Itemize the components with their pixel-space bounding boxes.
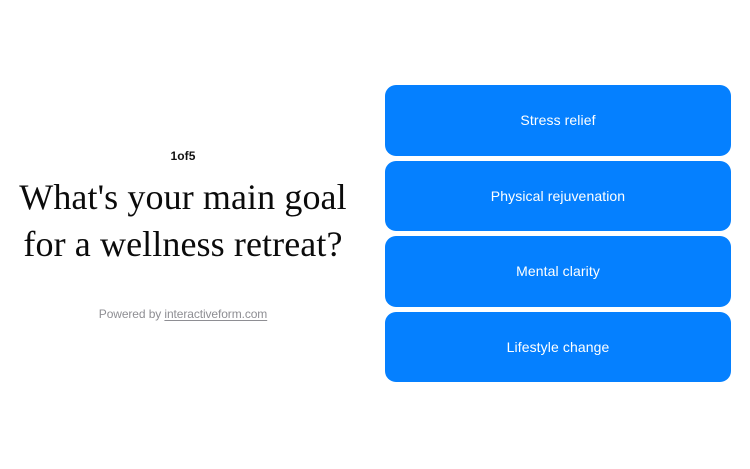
brand-link[interactable]: interactiveform.com [164, 307, 267, 321]
option-button-lifestyle-change[interactable]: Lifestyle change [385, 312, 731, 383]
option-button-mental-clarity[interactable]: Mental clarity [385, 236, 731, 307]
step-counter: 1of5 [0, 150, 366, 162]
powered-by: Powered by interactiveform.com [0, 308, 366, 320]
option-button-stress-relief[interactable]: Stress relief [385, 85, 731, 156]
form-screen: 1of5 What's your main goal for a wellnes… [0, 0, 750, 469]
option-button-physical-rejuvenation[interactable]: Physical rejuvenation [385, 161, 731, 232]
question-block: 1of5 What's your main goal for a wellnes… [0, 150, 366, 320]
question-title: What's your main goal for a wellness ret… [0, 174, 366, 268]
question-pane: 1of5 What's your main goal for a wellnes… [0, 0, 386, 469]
answer-options-list: Stress relief Physical rejuvenation Ment… [385, 85, 731, 382]
powered-by-prefix: Powered by [99, 307, 161, 321]
